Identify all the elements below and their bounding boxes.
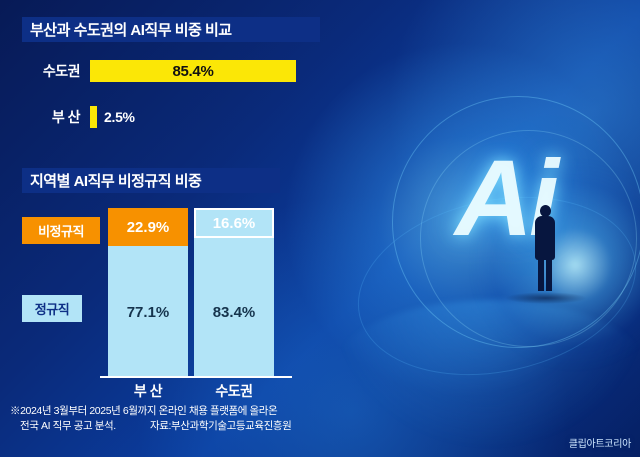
- chart2-column-busan: 22.9% 77.1%: [108, 208, 188, 376]
- chart2-x-axis: [100, 376, 292, 378]
- chart2-busan-irregular-value: 22.9%: [127, 219, 170, 236]
- chart2-busan-regular-value: 77.1%: [127, 304, 170, 321]
- chart2-column-metro: 83.4% 16.6%: [194, 208, 274, 376]
- chart2-legend-regular: 정규직: [22, 295, 82, 322]
- chart2-busan-irregular-segment: 22.9%: [108, 208, 188, 246]
- glow-arc: [330, 300, 640, 450]
- chart1-bar-1: [90, 106, 97, 128]
- chart1-row-1: 부 산 2.5%: [10, 106, 135, 128]
- chart2-metro-regular-value: 83.4%: [213, 304, 256, 321]
- chart2-xlabel-metro: 수도권: [194, 381, 274, 401]
- chart1-row-1-label: 부 산: [10, 107, 80, 127]
- image-credit: 클립아트코리아: [569, 435, 631, 450]
- footnote-line-2: 전국 AI 직무 공고 분석.: [20, 419, 116, 434]
- chart1-title: 부산과 수도권의 AI직무 비중 비교: [22, 17, 320, 42]
- chart2-legend-irregular-label: 비정규직: [38, 221, 84, 240]
- businessman-silhouette: [531, 205, 559, 291]
- chart1-row-0: 수도권 85.4%: [10, 60, 296, 82]
- chart2-xlabel-busan: 부 산: [108, 381, 188, 401]
- chart2-metro-irregular-value: 16.6%: [213, 215, 256, 232]
- chart1-row-0-value: 85.4%: [172, 63, 213, 80]
- infographic-canvas: Ai 부산과 수도권의 AI직무 비중 비교 수도권 85.4% 부 산 2.5…: [0, 0, 640, 457]
- figure-shadow: [505, 292, 587, 304]
- footnote-line-1: ※2024년 3월부터 2025년 6월까지 온라인 채용 플랫폼에 올라온: [10, 404, 277, 419]
- chart1-bar-0: 85.4%: [90, 60, 296, 82]
- chart1-row-1-value: 2.5%: [104, 109, 135, 125]
- chart2-metro-irregular-segment: 16.6%: [194, 208, 274, 238]
- chart2-legend-regular-label: 정규직: [35, 299, 69, 318]
- chart2-legend-irregular: 비정규직: [22, 217, 100, 244]
- chart2-busan-regular-segment: 77.1%: [108, 246, 188, 376]
- chart1-row-0-label: 수도권: [10, 61, 80, 81]
- chart2-title: 지역별 AI직무 비정규직 비중: [22, 168, 280, 193]
- footnote-source: 자료:부산과학기술고등교육진흥원: [150, 419, 291, 434]
